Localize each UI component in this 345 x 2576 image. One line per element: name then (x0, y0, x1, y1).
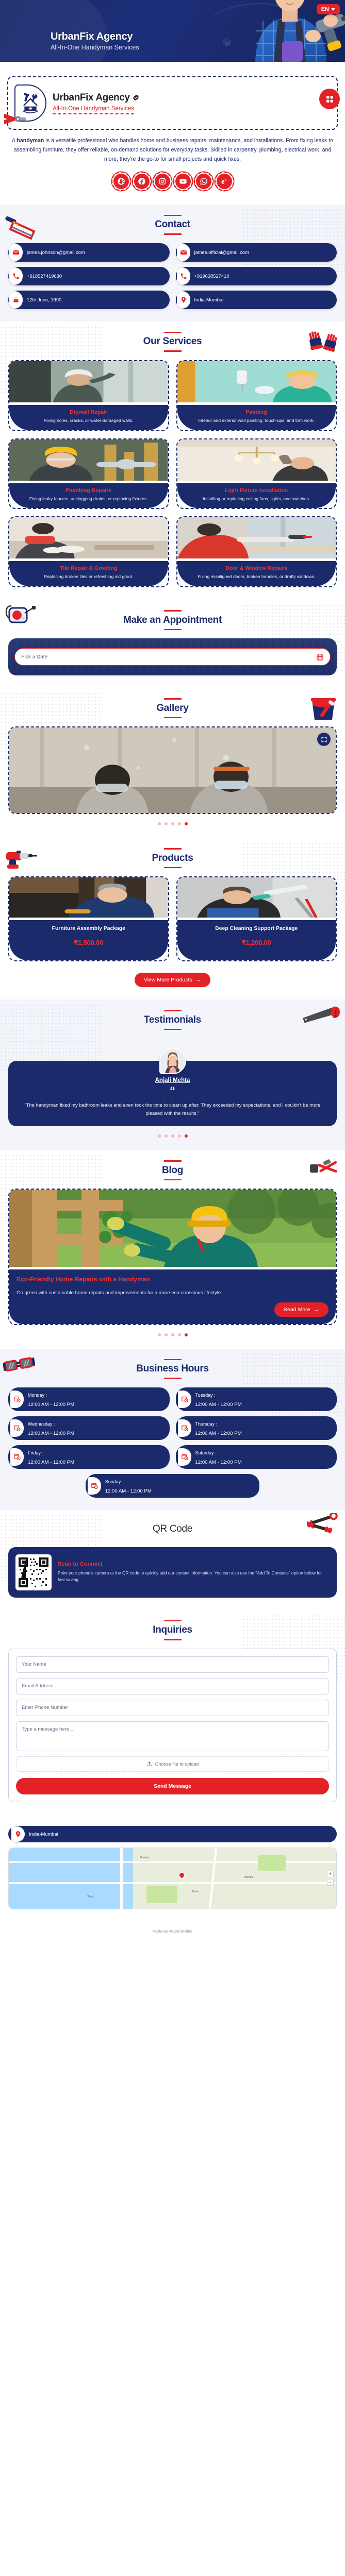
qr-section: QR Code (0, 1510, 345, 1610)
email-placeholder: Email Address (22, 1683, 53, 1689)
hours-day: Sunday : (105, 1479, 124, 1484)
hours-time: 12:00 AM - 12:00 PM (195, 1460, 242, 1465)
hours-row-friday: Friday : 12:00 AM - 12:00 PM (8, 1445, 170, 1469)
hero-title: UrbanFix Agency (51, 31, 139, 43)
service-name: Plumbing Repairs (13, 487, 164, 494)
carousel-dot-active[interactable] (185, 822, 188, 825)
map-road (9, 1861, 336, 1863)
brand-logo (14, 84, 46, 122)
carousel-dot[interactable] (158, 1333, 161, 1336)
service-body: Door & Window Repairs Fixing misaligned … (177, 561, 336, 586)
product-photo-furniture (9, 877, 168, 918)
location-icon (11, 1826, 25, 1842)
map-park (258, 1855, 286, 1871)
hours-row-saturday: Saturday : 12:00 AM - 12:00 PM (176, 1445, 337, 1469)
product-name: Furniture Assembly Package (13, 925, 164, 933)
carousel-dot[interactable] (171, 1333, 174, 1336)
read-more-label: Read More (284, 1307, 310, 1313)
qr-code-image[interactable] (15, 1554, 52, 1590)
location-icon (177, 291, 190, 309)
map-zoom-in-button[interactable]: + (327, 1871, 334, 1877)
about-rest: is a versatile professional who handles … (14, 138, 333, 162)
map-location-label: India-Mumbai (29, 1831, 58, 1837)
social-link-tiktok[interactable] (217, 174, 232, 189)
qr-panel: Scan to Connect Point your phone's camer… (8, 1547, 337, 1598)
hours-time: 12:00 AM - 12:00 PM (28, 1460, 74, 1465)
hours-text: Sunday : 12:00 AM - 12:00 PM (105, 1477, 152, 1495)
contact-section: Contact james.johnson@gmail.com james.of… (0, 205, 345, 321)
calendar-clock-icon (10, 1391, 24, 1408)
hours-time: 12:00 AM - 12:00 PM (195, 1402, 242, 1408)
map-label: Worli (87, 1895, 93, 1899)
service-photo-drywall (9, 361, 168, 402)
file-upload-label: Choose file to upload (155, 1761, 199, 1767)
view-more-products-button[interactable]: View More Products → (135, 973, 210, 987)
email-field[interactable]: Email Address (16, 1678, 329, 1694)
date-picker-field[interactable]: Pick a Date (14, 648, 331, 666)
inquiry-form: Your Name Email Address Enter Phone Numb… (8, 1649, 337, 1802)
contact-value: +918527419630 (27, 273, 62, 279)
hours-time: 12:00 AM - 12:00 PM (105, 1488, 152, 1494)
map-label: Bandra (244, 1876, 253, 1879)
map-label: Dadar (192, 1890, 200, 1893)
calendar-icon (316, 653, 324, 661)
qr-shortcut-button[interactable] (319, 89, 340, 109)
contact-grid: james.johnson@gmail.com james.official@g… (0, 235, 345, 309)
calendar-clock-icon (178, 1419, 191, 1437)
hours-text: Tuesday : 12:00 AM - 12:00 PM (195, 1390, 242, 1409)
hours-text: Friday : 12:00 AM - 12:00 PM (28, 1448, 74, 1466)
carousel-dot[interactable] (158, 1134, 161, 1138)
carousel-dot[interactable] (165, 1333, 168, 1336)
map-road (120, 1848, 123, 1909)
calendar-clock-icon (178, 1448, 191, 1466)
hours-time: 12:00 AM - 12:00 PM (28, 1431, 74, 1436)
name-field[interactable]: Your Name (16, 1656, 329, 1673)
qr-code-matrix (18, 1556, 50, 1588)
services-heading-wrap: Our Services (0, 332, 345, 352)
hero-subtitle: All-In-One Handyman Services (51, 44, 139, 51)
hours-day: Wednesday : (28, 1421, 55, 1427)
facebook-icon (138, 177, 146, 185)
youtube-icon (179, 177, 187, 185)
hours-day: Thursday : (195, 1421, 218, 1427)
language-label: EN (321, 6, 329, 12)
appointment-box: Pick a Date (8, 638, 337, 675)
contact-title: Contact (155, 216, 190, 233)
contact-item-phone-1[interactable]: +918527419630 (8, 267, 170, 285)
services-title: Our Services (143, 333, 202, 350)
map-embed[interactable]: Mumbai Dadar Worli Bandra + − (8, 1848, 337, 1909)
services-section: Our Services Drywall Repair Fixing holes… (0, 321, 345, 600)
hours-row-wednesday: Wednesday : 12:00 AM - 12:00 PM (8, 1416, 170, 1440)
email-icon (9, 244, 23, 261)
heading-rule-bottom (164, 1179, 182, 1181)
expand-icon (321, 736, 327, 743)
heading-rule-bottom (164, 717, 182, 719)
vcard-page: UrbanFix Agency All-In-One Handyman Serv… (0, 0, 345, 1940)
heading-rule-bottom (164, 629, 182, 631)
contact-item-birthday[interactable]: 12th June, 1990 (8, 291, 170, 309)
contact-item-email-1[interactable]: james.johnson@gmail.com (8, 243, 170, 262)
phone-icon (177, 267, 190, 285)
inquiries-section: Inquiries Your Name Email Address Enter … (0, 1610, 345, 1815)
product-body: Deep Cleaning Support Package ₹1,200.00 (177, 920, 336, 960)
blog-heading-wrap: Blog (0, 1160, 345, 1180)
blog-post-card[interactable]: Eco-Friendly Home Repairs with a Handyma… (8, 1189, 337, 1325)
map-section: India-Mumbai Mumbai Dadar Worli Bandra +… (0, 1815, 345, 1922)
website-icon (117, 177, 125, 185)
products-heading-wrap: Products (0, 848, 345, 868)
contact-heading-wrap: Contact (0, 215, 345, 235)
chevron-down-icon (331, 8, 335, 11)
social-link-whatsapp[interactable] (196, 174, 211, 189)
gallery-slide[interactable] (8, 726, 337, 814)
contact-item-phone-2[interactable]: +919638527410 (176, 267, 337, 285)
hours-row-monday: Monday : 12:00 AM - 12:00 PM (8, 1387, 170, 1411)
calendar-clock-icon (178, 1391, 191, 1408)
hours-day: Saturday : (195, 1450, 217, 1455)
contact-value: james.johnson@gmail.com (27, 249, 85, 255)
inquiries-heading-wrap: Inquiries (0, 1620, 345, 1640)
hero-banner: UrbanFix Agency All-In-One Handyman Serv… (0, 0, 345, 62)
service-body: Tile Repair & Grouting Replacing broken … (9, 561, 168, 586)
read-more-button[interactable]: Read More → (274, 1302, 328, 1317)
service-photo-light-fixture (177, 439, 336, 481)
service-card[interactable]: Door & Window Repairs Fixing misaligned … (176, 516, 337, 587)
calendar-clock-icon (10, 1419, 24, 1437)
tiktok-icon (220, 177, 228, 185)
carousel-dot-active[interactable] (185, 1333, 188, 1336)
blog-post-desc: Go green with sustainable home repairs a… (17, 1289, 328, 1297)
hours-text: Thursday : 12:00 AM - 12:00 PM (195, 1419, 242, 1437)
map-label: Mumbai (140, 1856, 149, 1859)
testimonial-text: "The handyman fixed my bathroom leaks an… (18, 1101, 327, 1117)
brand-name-row: UrbanFix Agency (53, 92, 139, 104)
testimonial-author: Anjali Mehta (18, 1077, 327, 1083)
qr-text-block: Scan to Connect Point your phone's camer… (58, 1561, 330, 1584)
qr-title: QR Code (153, 1520, 192, 1538)
message-field[interactable]: Type a message here... (16, 1721, 329, 1751)
hours-day: Tuesday : (195, 1393, 216, 1398)
hours-day: Monday : (28, 1393, 47, 1398)
product-price: ₹1,500.00 (13, 939, 164, 946)
name-placeholder: Your Name (22, 1662, 46, 1667)
view-more-label: View More Products (144, 977, 192, 983)
language-selector[interactable]: EN (317, 4, 340, 14)
upload-icon (146, 1761, 152, 1767)
carousel-dot[interactable] (178, 822, 181, 825)
service-body: Drywall Repair Fixing holes, cracks, or … (9, 405, 168, 430)
product-card[interactable]: Furniture Assembly Package ₹1,500.00 (8, 876, 169, 961)
contact-item-email-2[interactable]: james.official@gmail.com (176, 243, 337, 262)
services-grid: Drywall Repair Fixing holes, cracks, or … (0, 352, 345, 588)
arrow-right-icon: → (196, 977, 202, 983)
products-grid: Furniture Assembly Package ₹1,500.00 (0, 868, 345, 961)
hours-time: 12:00 AM - 12:00 PM (195, 1431, 242, 1436)
hours-day: Friday : (28, 1450, 43, 1455)
testimonials-heading-wrap: Testimonials (0, 1010, 345, 1030)
service-desc: Interior and exterior wall painting, tou… (182, 417, 332, 424)
service-body: Plumbing Repairs Fixing leaky faucets, u… (9, 483, 168, 509)
service-name: Door & Window Repairs (182, 565, 332, 571)
map-water (9, 1848, 133, 1909)
business-hours-section: Business Hours Monday : 12:00 AM - 12:00… (0, 1349, 345, 1510)
file-upload-row[interactable]: Choose file to upload (16, 1756, 329, 1772)
testimonial-carousel-dots[interactable] (0, 1126, 345, 1138)
map-park (146, 1886, 177, 1903)
testimonials-title: Testimonials (144, 1011, 201, 1029)
product-name: Deep Cleaning Support Package (182, 925, 332, 933)
view-more-wrap: View More Products → (0, 961, 345, 987)
service-card[interactable]: Tile Repair & Grouting Replacing broken … (8, 516, 169, 587)
service-card[interactable]: Plumbing Repairs Fixing leaky faucets, u… (8, 438, 169, 510)
calendar-clock-icon (10, 1448, 24, 1466)
message-placeholder: Type a message here... (22, 1726, 73, 1732)
phone-placeholder: Enter Phone Number (22, 1705, 68, 1710)
contact-value: james.official@gmail.com (194, 249, 249, 255)
map-road (209, 1848, 217, 1909)
arrow-right-icon: → (314, 1307, 320, 1313)
hammer-wrench-house-icon (20, 92, 41, 114)
about-bold-word: handyman (17, 138, 44, 144)
hours-row-tuesday: Tuesday : 12:00 AM - 12:00 PM (176, 1387, 337, 1411)
inquiries-title: Inquiries (153, 1621, 192, 1639)
carousel-dot[interactable] (171, 822, 174, 825)
service-desc: Fixing leaky faucets, unclogging drains,… (13, 496, 164, 502)
carousel-dot-active[interactable] (185, 1134, 188, 1138)
product-card[interactable]: Deep Cleaning Support Package ₹1,200.00 (176, 876, 337, 961)
instagram-icon (158, 177, 167, 185)
testimonial-slide: Anjali Mehta “ "The handyman fixed my ba… (0, 1030, 345, 1126)
blog-title: Blog (162, 1162, 183, 1179)
social-links (0, 166, 345, 200)
contact-value: +919638527410 (194, 273, 229, 279)
carousel-dot[interactable] (165, 822, 168, 825)
blog-post-title: Eco-Friendly Home Repairs with a Handyma… (17, 1276, 328, 1283)
hours-text: Saturday : 12:00 AM - 12:00 PM (195, 1448, 242, 1466)
product-price: ₹1,200.00 (182, 939, 332, 946)
contact-item-location[interactable]: India-Mumbai (176, 291, 337, 309)
phone-field[interactable]: Enter Phone Number (16, 1700, 329, 1716)
date-placeholder: Pick a Date (21, 654, 47, 660)
cake-icon (9, 291, 23, 309)
blog-button-row: Read More → (17, 1302, 328, 1317)
business-hours-grid: Monday : 12:00 AM - 12:00 PM Tuesday : 1… (0, 1379, 345, 1498)
avatar-photo (160, 1048, 185, 1073)
quote-icon: “ (18, 1086, 327, 1097)
whatsapp-icon (200, 177, 208, 185)
service-desc: Fixing holes, cracks, or water-damaged w… (13, 417, 164, 424)
about-paragraph: A handyman is a versatile professional w… (0, 130, 345, 166)
qr-grid-icon (325, 95, 334, 104)
appointment-section: Make an Appointment Pick a Date (0, 600, 345, 688)
calendar-clock-icon (88, 1477, 101, 1495)
service-photo-plumbing (9, 439, 168, 481)
contact-value: India-Mumbai (194, 297, 224, 302)
gallery-title: Gallery (156, 700, 188, 717)
social-link-website[interactable] (113, 174, 129, 189)
gallery-section: Gallery (0, 688, 345, 838)
social-link-instagram[interactable] (155, 174, 170, 189)
qr-heading-wrap: QR Code (0, 1520, 345, 1538)
map-road (9, 1882, 336, 1884)
service-card[interactable]: Painting Interior and exterior wall pain… (176, 360, 337, 431)
map-zoom-out-button[interactable]: − (327, 1879, 334, 1886)
service-body: Light Fixture Installation Installing or… (177, 483, 336, 509)
service-photo-tile (9, 517, 168, 558)
products-section: Products Furniture Assembly Package ₹1,5… (0, 838, 345, 999)
appointment-title: Make an Appointment (123, 612, 222, 629)
service-desc: Installing or replacing ceiling fans, li… (182, 496, 332, 502)
social-link-facebook[interactable] (134, 174, 150, 189)
brand-info: UrbanFix Agency All-In-One Handyman Serv… (53, 92, 139, 114)
carousel-dot[interactable] (171, 1134, 174, 1138)
blog-post-body: Eco-Friendly Home Repairs with a Handyma… (9, 1269, 336, 1324)
gallery-carousel-dots[interactable] (0, 814, 345, 825)
product-photo-cleaning (177, 877, 336, 918)
service-photo-door-window (177, 517, 336, 558)
contact-value: 12th June, 1990 (27, 297, 61, 302)
business-hours-heading-wrap: Business Hours (0, 1359, 345, 1379)
hours-text: Wednesday : 12:00 AM - 12:00 PM (28, 1419, 74, 1437)
email-icon (177, 244, 190, 261)
carousel-dot[interactable] (178, 1333, 181, 1336)
service-desc: Fixing misaligned doors, broken handles,… (182, 573, 332, 580)
carousel-dot[interactable] (158, 822, 161, 825)
service-name: Tile Repair & Grouting (13, 565, 164, 571)
service-desc: Replacing broken tiles or refreshing old… (13, 573, 164, 580)
hours-text: Monday : 12:00 AM - 12:00 PM (28, 1390, 74, 1409)
brand-tagline: All-In-One Handyman Services (53, 106, 134, 114)
heading-rule-bottom (164, 1639, 182, 1640)
hours-time: 12:00 AM - 12:00 PM (28, 1402, 74, 1408)
qr-description: Point your phone's camera at the QR code… (58, 1570, 330, 1584)
blog-carousel-dots[interactable] (0, 1325, 345, 1336)
service-name: Drywall Repair (13, 409, 164, 415)
carousel-dot[interactable] (165, 1134, 168, 1138)
service-name: Light Fixture Installation (182, 487, 332, 494)
gallery-photo (9, 727, 336, 813)
appointment-heading-wrap: Make an Appointment (0, 610, 345, 630)
map-location-pill[interactable]: India-Mumbai (8, 1826, 337, 1842)
business-hours-title: Business Hours (136, 1360, 208, 1378)
product-body: Furniture Assembly Package ₹1,500.00 (9, 920, 168, 960)
carousel-dot[interactable] (178, 1134, 181, 1138)
map-marker[interactable] (178, 1871, 186, 1879)
hours-row-sunday: Sunday : 12:00 AM - 12:00 PM (86, 1474, 260, 1498)
service-body: Painting Interior and exterior wall pain… (177, 405, 336, 430)
service-photo-painting (177, 361, 336, 402)
testimonials-section: Testimonials Anjali Mehta “ "The handyma… (0, 999, 345, 1150)
profile-card: UrbanFix Agency All-In-One Handyman Serv… (7, 76, 338, 130)
qr-heading: Scan to Connect (58, 1561, 330, 1567)
phone-icon (9, 267, 23, 285)
profile-section: UrbanFix Agency All-In-One Handyman Serv… (0, 62, 345, 205)
blog-photo (9, 1190, 336, 1267)
brand-name: UrbanFix Agency (53, 92, 130, 104)
gallery-heading-wrap: Gallery (0, 698, 345, 718)
service-card[interactable]: Light Fixture Installation Installing or… (176, 438, 337, 510)
blog-section: Blog (0, 1150, 345, 1348)
products-title: Products (152, 850, 193, 867)
service-name: Painting (182, 409, 332, 415)
verified-badge-icon (133, 94, 139, 101)
hours-row-thursday: Thursday : 12:00 AM - 12:00 PM (176, 1416, 337, 1440)
send-message-button[interactable]: Send Message (16, 1778, 329, 1794)
social-link-youtube[interactable] (175, 174, 191, 189)
hero-text-block: UrbanFix Agency All-In-One Handyman Serv… (51, 31, 139, 51)
page-footer: Made By vCard Builder (0, 1922, 345, 1940)
avatar (159, 1047, 186, 1074)
service-card[interactable]: Drywall Repair Fixing holes, cracks, or … (8, 360, 169, 431)
